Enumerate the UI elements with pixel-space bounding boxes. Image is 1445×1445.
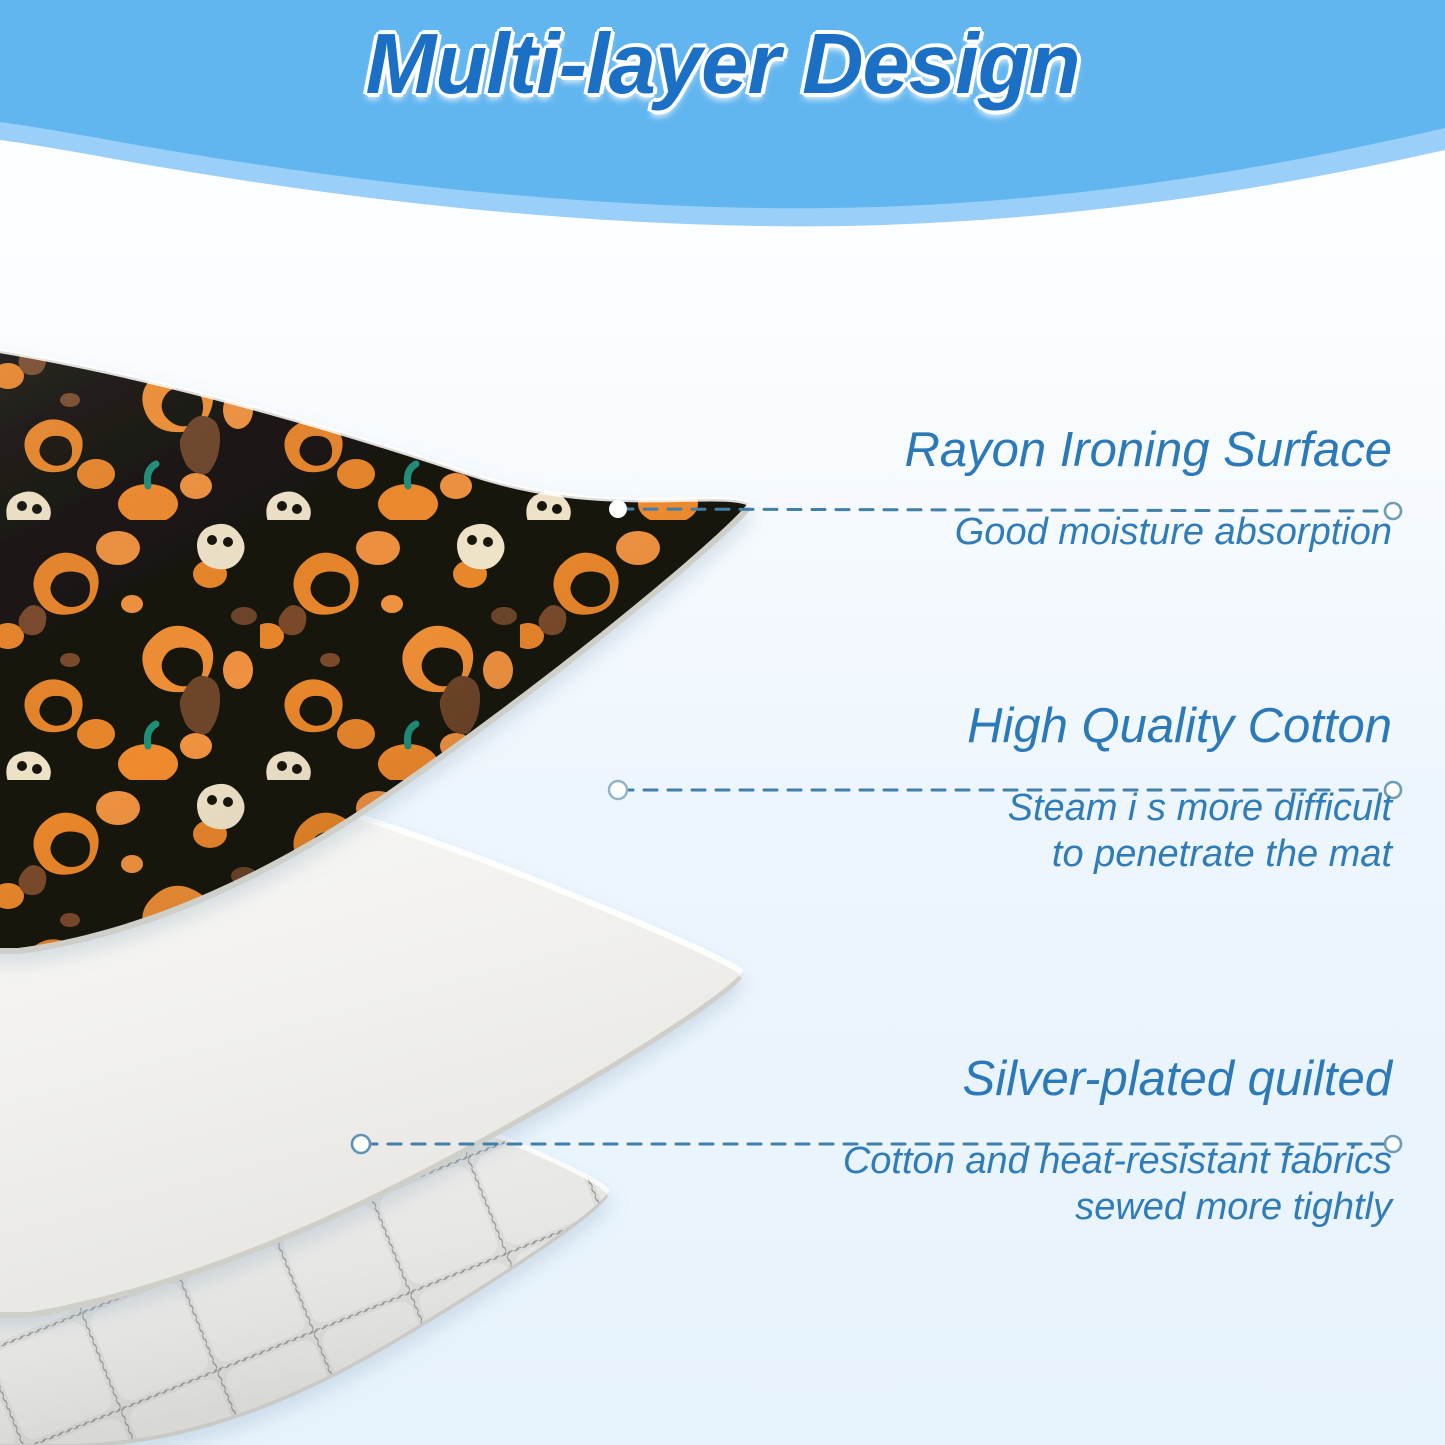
callout-rule-3 xyxy=(752,1114,1392,1132)
callout-high-quality-cotton: High Quality Cotton Steam i s more diffi… xyxy=(812,700,1392,878)
callout-silver-plated-quilted: Silver-plated quilted Cotton and heat-re… xyxy=(752,1053,1392,1231)
callout-rule-1 xyxy=(812,485,1392,503)
callout-title-2: High Quality Cotton xyxy=(812,700,1392,753)
callout-rayon-ironing-surface: Rayon Ironing Surface Good moisture abso… xyxy=(812,424,1392,555)
callout-title-1: Rayon Ironing Surface xyxy=(812,424,1392,477)
callout-title-3: Silver-plated quilted xyxy=(752,1053,1392,1106)
callout-rule-2 xyxy=(812,761,1392,779)
callout-subtitle-2-line-2: to penetrate the mat xyxy=(812,831,1392,877)
callout-subtitle-1-line-1: Good moisture absorption xyxy=(812,509,1392,555)
header-banner: Multi-layer Design xyxy=(0,0,1445,260)
page-title: Multi-layer Design xyxy=(0,20,1445,109)
callout-subtitle-2-line-1: Steam i s more difficult xyxy=(812,785,1392,831)
callout-subtitle-3-line-2: sewed more tightly xyxy=(752,1184,1392,1230)
infographic-canvas: Multi-layer Design Rayon Ironing Surface… xyxy=(0,0,1445,1445)
callout-subtitle-3-line-1: Cotton and heat-resistant fabrics xyxy=(752,1138,1392,1184)
